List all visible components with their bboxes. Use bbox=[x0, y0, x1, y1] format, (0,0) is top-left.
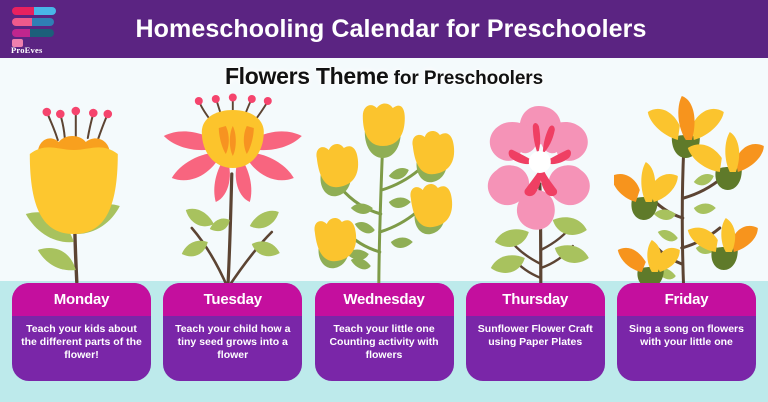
day-label: Tuesday bbox=[204, 291, 262, 308]
proeves-logo: ProEves bbox=[8, 5, 60, 53]
day-description: Sing a song on flowers with your little … bbox=[624, 323, 749, 349]
flower-pink-petal bbox=[461, 92, 615, 292]
flower-illustrations bbox=[0, 92, 768, 292]
day-label: Friday bbox=[665, 291, 709, 308]
day-card-header: Monday bbox=[12, 283, 151, 316]
subtitle-light: for Preschoolers bbox=[388, 68, 543, 89]
day-description: Sunflower Flower Craft using Paper Plate… bbox=[473, 323, 598, 349]
flower-orange-branch bbox=[614, 92, 768, 292]
day-card-header: Wednesday bbox=[315, 283, 454, 316]
flower-yellow-branch bbox=[307, 92, 461, 292]
theme-subtitle: Flowers Theme for Preschoolers bbox=[225, 63, 543, 90]
subtitle-strong: Flowers Theme bbox=[225, 63, 389, 89]
day-card-wednesday[interactable]: Wednesday Teach your little one Counting… bbox=[315, 283, 454, 381]
logo-bar-3-right bbox=[30, 29, 54, 37]
poster-root: ProEves Homeschooling Calendar for Presc… bbox=[0, 0, 768, 402]
day-description: Teach your child how a tiny seed grows i… bbox=[170, 323, 295, 361]
day-card-header: Friday bbox=[617, 283, 756, 316]
day-label: Thursday bbox=[502, 291, 568, 308]
day-label: Monday bbox=[54, 291, 109, 308]
day-description: Teach your kids about the different part… bbox=[19, 323, 144, 361]
flower-pink-daisy bbox=[154, 92, 308, 292]
flower-yellow-tulip bbox=[0, 92, 154, 292]
day-label: Wednesday bbox=[343, 291, 424, 308]
day-card-tuesday[interactable]: Tuesday Teach your child how a tiny seed… bbox=[163, 283, 302, 381]
day-card-body: Sunflower Flower Craft using Paper Plate… bbox=[466, 316, 605, 381]
page-title: Homeschooling Calendar for Preschoolers bbox=[60, 15, 768, 44]
day-card-body: Teach your child how a tiny seed grows i… bbox=[163, 316, 302, 381]
logo-bar-1-right bbox=[34, 7, 56, 15]
day-card-friday[interactable]: Friday Sing a song on flowers with your … bbox=[617, 283, 756, 381]
day-card-body: Teach your kids about the different part… bbox=[12, 316, 151, 381]
subtitle-bar: Flowers Theme for Preschoolers bbox=[0, 58, 768, 94]
day-card-body: Sing a song on flowers with your little … bbox=[617, 316, 756, 381]
day-card-thursday[interactable]: Thursday Sunflower Flower Craft using Pa… bbox=[466, 283, 605, 381]
day-card-body: Teach your little one Counting activity … bbox=[315, 316, 454, 381]
logo-bar-2-right bbox=[32, 18, 54, 26]
day-card-header: Tuesday bbox=[163, 283, 302, 316]
day-card-header: Thursday bbox=[466, 283, 605, 316]
day-card-monday[interactable]: Monday Teach your kids about the differe… bbox=[12, 283, 151, 381]
logo-wordmark: ProEves bbox=[11, 45, 61, 55]
page-header: ProEves Homeschooling Calendar for Presc… bbox=[0, 0, 768, 58]
day-cards: Monday Teach your kids about the differe… bbox=[0, 283, 768, 383]
day-description: Teach your little one Counting activity … bbox=[322, 323, 447, 361]
